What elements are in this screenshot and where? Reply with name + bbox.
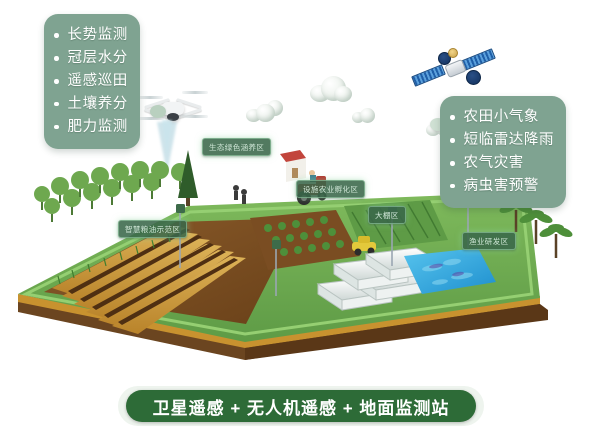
info-item-label: 肥力监测 [68, 116, 128, 139]
cloud-icon [352, 108, 376, 123]
info-item: 肥力监测 [54, 116, 128, 139]
infographic-canvas: 生态绿色涵养区 设施农业孵化区 智慧粮油示范区 大棚区 渔业研发区 长势监测 冠… [0, 0, 600, 442]
worker-figure-icon [233, 185, 247, 204]
info-panel-right-list: 农田小气象 短临雷达降雨 农气灾害 病虫害预警 [450, 106, 554, 198]
info-item: 长势监测 [54, 24, 128, 47]
info-item: 冠层水分 [54, 47, 128, 70]
cloud-icon [310, 76, 352, 102]
panel-connector-left [150, 105, 166, 118]
info-item: 遥感巡田 [54, 70, 128, 93]
info-item-label: 农气灾害 [464, 152, 524, 175]
banner-outer: 卫星遥感 + 无人机遥感 + 地面监测站 [118, 386, 484, 426]
satellite-icon [412, 44, 496, 96]
cloud-icon [246, 104, 276, 122]
info-item-label: 长势监测 [68, 24, 128, 47]
zone-label-grain: 智慧粮油示范区 [118, 220, 187, 238]
zone-label-facility: 设施农业孵化区 [296, 180, 365, 198]
bullet-icon [450, 138, 455, 143]
bullet-icon [450, 161, 455, 166]
zone-label-eco: 生态绿色涵养区 [202, 138, 271, 156]
farm-building-icon [280, 150, 306, 182]
bullet-icon [450, 184, 455, 189]
info-item-label: 短临雷达降雨 [464, 129, 555, 152]
info-item-label: 冠层水分 [68, 47, 128, 70]
info-item: 病虫害预警 [450, 175, 554, 198]
bullet-icon [54, 125, 59, 130]
bullet-icon [54, 33, 59, 38]
bullet-icon [450, 115, 455, 120]
bullet-icon [54, 56, 59, 61]
info-item-label: 土壤养分 [68, 93, 128, 116]
bullet-icon [54, 79, 59, 84]
info-item-label: 农田小气象 [464, 106, 540, 129]
zone-label-greenhouse: 大棚区 [368, 206, 406, 224]
tree-icon [34, 161, 189, 222]
info-item: 土壤养分 [54, 93, 128, 116]
bullet-icon [54, 102, 59, 107]
info-panel-left-list: 长势监测 冠层水分 遥感巡田 土壤养分 肥力监测 [54, 24, 128, 139]
summary-banner: 卫星遥感 + 无人机遥感 + 地面监测站 [126, 390, 476, 422]
info-panel-left: 长势监测 冠层水分 遥感巡田 土壤养分 肥力监测 [44, 14, 140, 149]
info-item: 农田小气象 [450, 106, 554, 129]
info-item-label: 遥感巡田 [68, 70, 128, 93]
info-item: 农气灾害 [450, 152, 554, 175]
zone-label-fishery: 渔业研发区 [462, 232, 516, 250]
info-panel-right: 农田小气象 短临雷达降雨 农气灾害 病虫害预警 [440, 96, 566, 208]
info-item: 短临雷达降雨 [450, 129, 554, 152]
info-item-label: 病虫害预警 [464, 175, 540, 198]
